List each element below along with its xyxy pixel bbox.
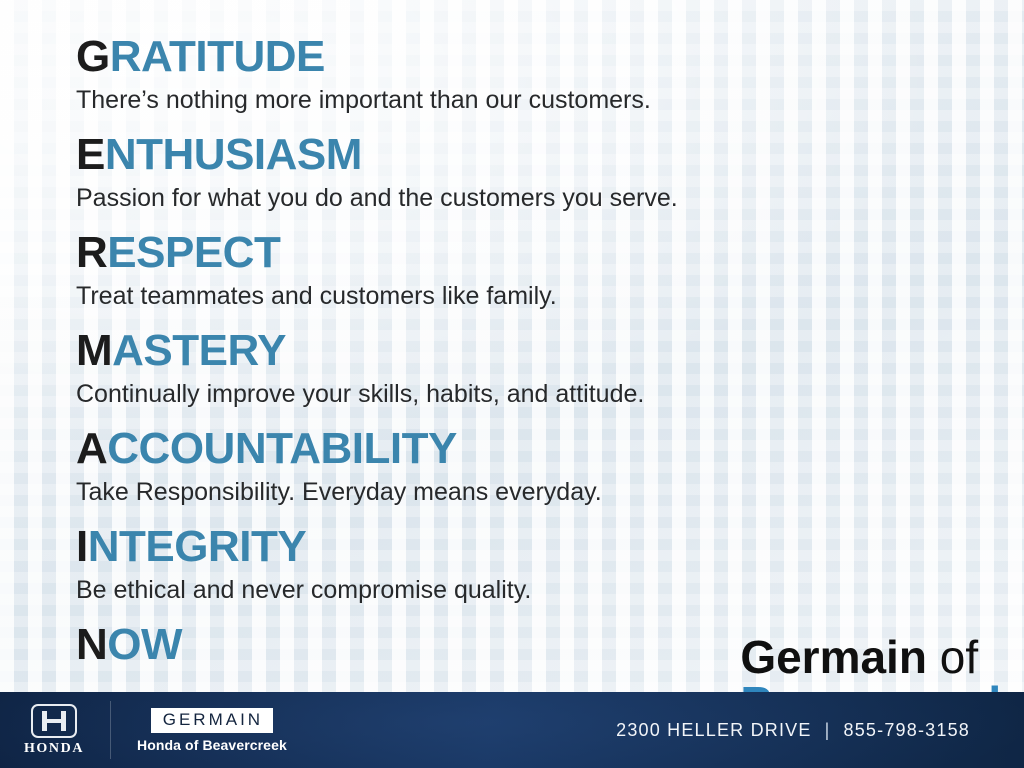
- footer-separator: |: [825, 720, 831, 741]
- value-rest: ASTERY: [112, 326, 286, 375]
- wordmark-of: of: [940, 631, 978, 683]
- value-rest: ESPECT: [107, 228, 280, 277]
- value-heading-respect: RESPECT: [76, 228, 1024, 278]
- value-block-integrity: INTEGRITY Be ethical and never compromis…: [76, 522, 1024, 606]
- dealership-core-values-poster: GRATITUDE There’s nothing more important…: [0, 0, 1024, 768]
- value-block-gratitude: GRATITUDE There’s nothing more important…: [76, 32, 1024, 116]
- honda-wordmark: HONDA: [24, 741, 84, 757]
- footer-phone[interactable]: 855-798-3158: [844, 720, 971, 741]
- value-rest: CCOUNTABILITY: [107, 424, 457, 473]
- value-description-enthusiasm: Passion for what you do and the customer…: [76, 182, 1024, 214]
- value-heading-enthusiasm: ENTHUSIASM: [76, 130, 1024, 180]
- footer-contact-info: 2300 HELLER DRIVE | 855-798-3158: [616, 720, 970, 741]
- value-block-accountability: ACCOUNTABILITY Take Responsibility. Ever…: [76, 424, 1024, 508]
- value-rest: OW: [107, 620, 182, 669]
- footer-divider: [110, 701, 111, 759]
- germain-dealer-logo: GERMAIN Honda of Beavercreek: [137, 708, 287, 753]
- footer-bar: HONDA GERMAIN Honda of Beavercreek 2300 …: [0, 692, 1024, 768]
- core-values-list: GRATITUDE There’s nothing more important…: [76, 32, 1024, 684]
- value-initial: I: [76, 522, 88, 571]
- value-initial: M: [76, 326, 112, 375]
- value-rest: NTHUSIASM: [105, 130, 362, 179]
- value-rest: NTEGRITY: [88, 522, 306, 571]
- germain-dealer-name: Honda of Beavercreek: [137, 737, 287, 753]
- wordmark-line-one: Germain of: [740, 636, 1014, 678]
- value-heading-gratitude: GRATITUDE: [76, 32, 1024, 82]
- wordmark-germain: Germain: [740, 631, 927, 683]
- value-description-mastery: Continually improve your skills, habits,…: [76, 378, 1024, 410]
- value-description-accountability: Take Responsibility. Everyday means ever…: [76, 476, 1024, 508]
- honda-h-icon: [31, 704, 77, 738]
- value-initial: R: [76, 228, 107, 277]
- germain-wordmark: GERMAIN: [151, 708, 273, 733]
- value-initial: G: [76, 32, 110, 81]
- value-rest: RATITUDE: [110, 32, 325, 81]
- value-description-gratitude: There’s nothing more important than our …: [76, 84, 1024, 116]
- value-description-respect: Treat teammates and customers like famil…: [76, 280, 1024, 312]
- value-description-integrity: Be ethical and never compromise quality.: [76, 574, 1024, 606]
- value-block-mastery: MASTERY Continually improve your skills,…: [76, 326, 1024, 410]
- value-heading-mastery: MASTERY: [76, 326, 1024, 376]
- honda-logo: HONDA: [0, 704, 108, 757]
- value-block-respect: RESPECT Treat teammates and customers li…: [76, 228, 1024, 312]
- value-block-enthusiasm: ENTHUSIASM Passion for what you do and t…: [76, 130, 1024, 214]
- value-initial: E: [76, 130, 105, 179]
- footer-address: 2300 HELLER DRIVE: [616, 720, 812, 741]
- value-heading-integrity: INTEGRITY: [76, 522, 1024, 572]
- value-initial: N: [76, 620, 107, 669]
- value-heading-accountability: ACCOUNTABILITY: [76, 424, 1024, 474]
- value-initial: A: [76, 424, 107, 473]
